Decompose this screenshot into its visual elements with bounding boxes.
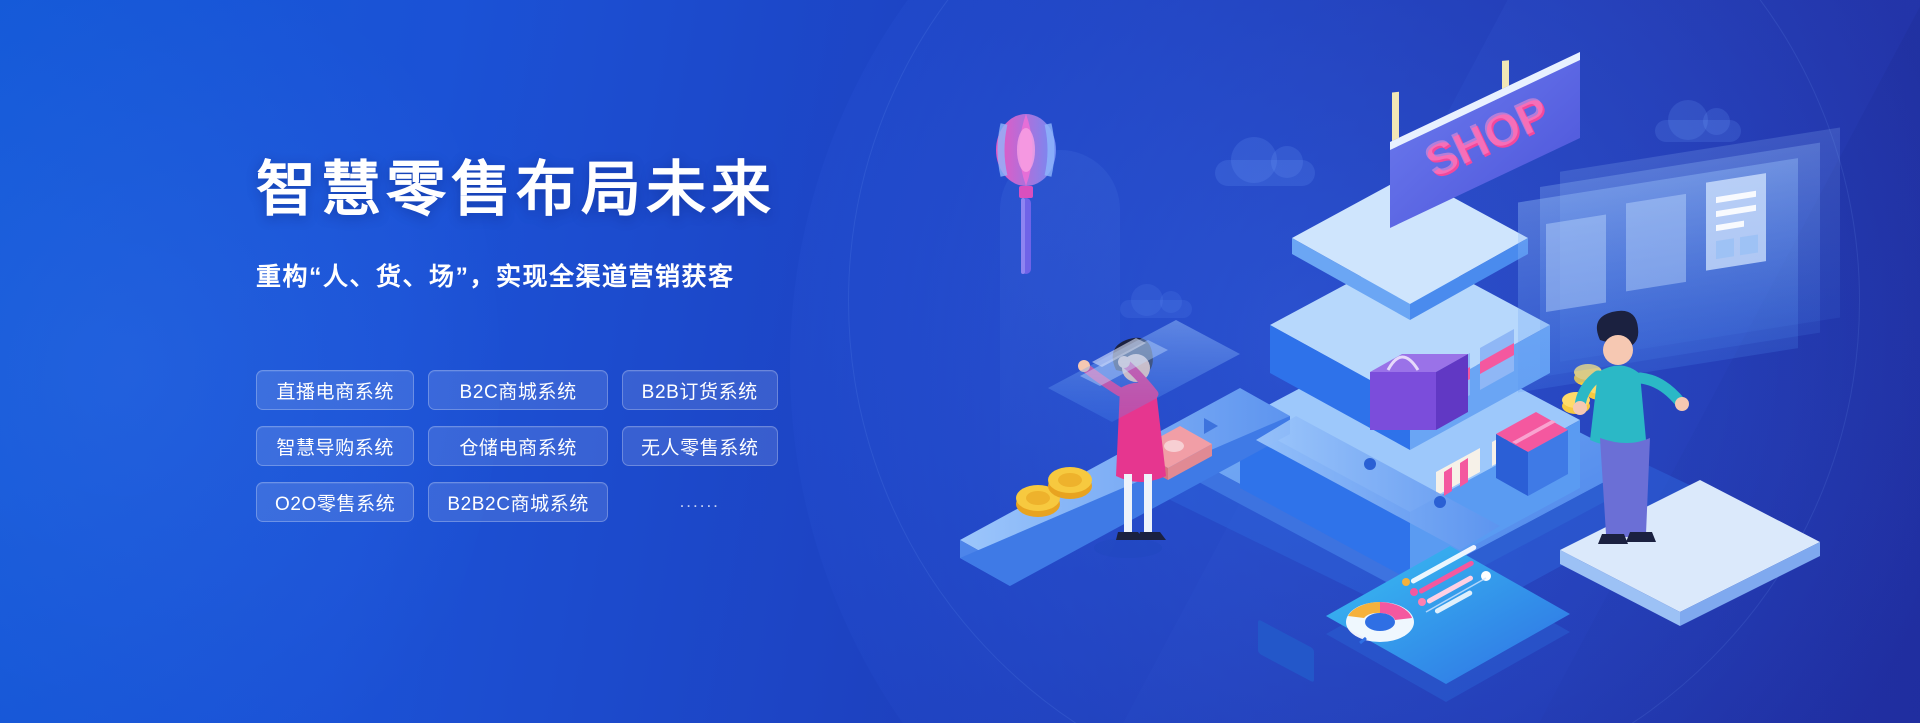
chip-unmanned-retail[interactable]: 无人零售系统 xyxy=(622,426,778,466)
system-chip-grid: 直播电商系统 B2C商城系统 B2B订货系统 智慧导购系统 仓储电商系统 无人零… xyxy=(256,370,778,522)
chip-o2o-retail[interactable]: O2O零售系统 xyxy=(256,482,414,522)
pants xyxy=(1600,438,1650,537)
chip-live-commerce[interactable]: 直播电商系统 xyxy=(256,370,414,410)
chip-more-ellipsis: ...... xyxy=(622,482,778,522)
ui-card xyxy=(1546,215,1606,313)
hero-banner: 智慧零售布局未来 重构“人、货、场”，实现全渠道营销获客 直播电商系统 B2C商… xyxy=(0,0,1920,723)
chip-smart-guide[interactable]: 智慧导购系统 xyxy=(256,426,414,466)
chip-b2c-mall[interactable]: B2C商城系统 xyxy=(428,370,608,410)
shopping-bag xyxy=(1370,354,1468,430)
chip-warehouse-commerce[interactable]: 仓储电商系统 xyxy=(428,426,608,466)
hot-air-balloon-icon xyxy=(996,114,1056,274)
chip-b2b2c-mall[interactable]: B2B2C商城系统 xyxy=(428,482,608,522)
translucent-screen-stack xyxy=(1518,127,1840,392)
ui-card xyxy=(1626,194,1686,292)
retail-illustration: SHOP SHOP xyxy=(940,20,1900,710)
page-subtitle: 重构“人、货、场”，实现全渠道营销获客 xyxy=(256,265,735,290)
banner-content: 智慧零售布局未来 重构“人、货、场”，实现全渠道营销获客 直播电商系统 B2C商… xyxy=(256,0,896,723)
chip-b2b-ordering[interactable]: B2B订货系统 xyxy=(622,370,778,410)
page-title: 智慧零售布局未来 xyxy=(256,160,776,220)
man-with-screens xyxy=(1518,127,1840,626)
